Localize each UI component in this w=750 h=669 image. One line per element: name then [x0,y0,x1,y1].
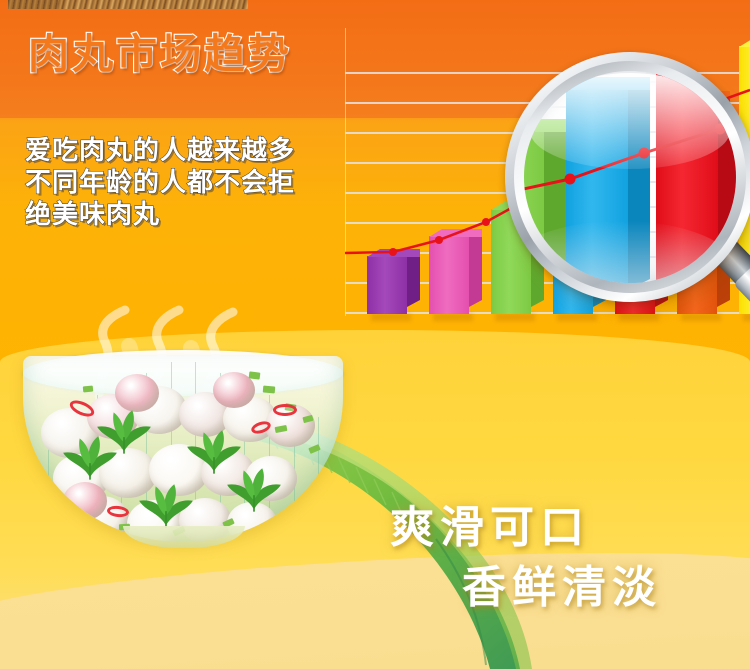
lens-trend-polyline [524,81,736,191]
trend-marker [389,248,397,256]
subtitle-line-3: 绝美味肉丸 [25,198,295,230]
lens-magnified-trend [524,71,736,283]
wood-texture-icon [53,0,248,9]
bowl-foot [123,526,245,548]
bowl-body [23,356,343,542]
bowl-flute [318,417,319,542]
cilantro-garnish [59,436,121,482]
lens-trend-marker [639,148,650,159]
magnifier-lens [524,71,736,283]
subtitle-line-1: 爱吃肉丸的人越来越多 [25,134,295,166]
soup-bowl-icon [5,330,365,575]
page-title: 肉丸市场趋势 [28,34,292,75]
lens-trend-marker [565,174,576,185]
subtitle-line-2: 不同年龄的人都不会拒 [25,166,295,198]
magnifying-glass-icon [505,52,750,308]
slogan-line-1: 爽滑可口 [390,491,590,555]
slogan-line-2: 香鲜清淡 [462,551,662,615]
meatball [63,482,107,520]
trend-marker [435,236,443,244]
chili-slice [273,404,297,416]
scallion-bit [249,371,261,379]
cilantro-garnish [135,484,197,530]
cilantro-garnish [223,468,285,514]
promo-poster: 肉丸市场趋势 爱吃肉丸的人越来越多 不同年龄的人都不会拒 绝美味肉丸 爽滑可口 … [0,0,750,669]
subtitle-block: 爱吃肉丸的人越来越多 不同年龄的人都不会拒 绝美味肉丸 [25,134,295,230]
trend-marker [482,218,490,226]
scallion-bit [83,386,93,393]
meatball [115,374,159,412]
scallion-bit [263,385,276,393]
lens-trend-marker [715,124,726,135]
